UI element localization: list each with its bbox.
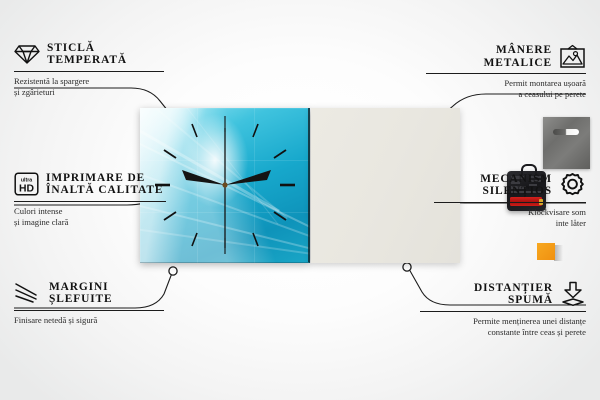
foam-spacer-part xyxy=(537,243,555,260)
feature-sub-line2: a ceasului pe perete xyxy=(426,89,586,100)
diamond-icon xyxy=(14,43,40,65)
feature-title-line1: DISTANȚIER xyxy=(474,282,553,294)
gear-icon xyxy=(559,172,586,198)
wire-dot-right-3 xyxy=(403,263,411,271)
hanger-slot xyxy=(553,129,579,135)
divider xyxy=(434,202,586,203)
feature-sub-line1: Finisare netedă și sigură xyxy=(14,315,164,326)
feature-title-line2: TEMPERATĂ xyxy=(47,54,127,66)
feature-metal-handles: MÂNERE METALICE Permit montarea ușoară a… xyxy=(426,44,586,100)
divider xyxy=(420,311,586,312)
picture-hanger-icon xyxy=(559,44,586,69)
infographic-canvas: STICLĂ TEMPERATĂ Rezistentă la spargere … xyxy=(0,0,600,400)
feature-sub-line1: Permit montarea ușoară xyxy=(426,78,586,89)
feature-sub-line2: inte låter xyxy=(434,218,586,229)
feature-sub-line1: Rezistentă la spargere xyxy=(14,76,164,87)
feature-title-line2: ÎNALTĂ CALITATE xyxy=(46,184,163,196)
feature-tempered-glass: STICLĂ TEMPERATĂ Rezistentă la spargere … xyxy=(14,42,164,98)
divider xyxy=(14,201,166,202)
ultra-hd-icon-main: HD xyxy=(19,184,35,195)
feature-title-line1: MÂNERE xyxy=(484,44,552,56)
ultra-hd-icon: ultra HD xyxy=(14,172,39,196)
feature-title-line2: SPUMĂ xyxy=(474,294,553,306)
feature-title-line1: IMPRIMARE DE xyxy=(46,172,163,184)
divider xyxy=(426,73,586,74)
product-image xyxy=(140,108,460,263)
feature-silent-mechanism: MECANISM SILENȚIOS Klockvisare som inte … xyxy=(434,172,586,229)
wire-dot-left-3 xyxy=(169,267,177,275)
feature-title-line2: SILENȚIOS xyxy=(480,185,552,197)
polished-edges-icon xyxy=(14,282,42,304)
feature-title-line1: MARGINI xyxy=(49,281,113,293)
feature-foam-spacer: DISTANȚIER SPUMĂ Permite menținerea unei… xyxy=(420,281,586,338)
feature-title-line1: MECANISM xyxy=(480,173,552,185)
divider xyxy=(14,71,164,72)
hands-cap xyxy=(222,182,227,187)
foam-spacer-icon xyxy=(560,281,586,307)
divider xyxy=(14,310,164,311)
feature-sub-line2: și zgârieturi xyxy=(14,87,164,98)
metal-hanger-part xyxy=(543,117,590,169)
feature-sub-line1: Permite menținerea unei distanțe xyxy=(420,316,586,327)
feature-sub-line2: și imagine clară xyxy=(14,217,166,228)
feature-title-line1: STICLĂ xyxy=(47,42,127,54)
feature-polished-edges: MARGINI ȘLEFUITE Finisare netedă și sigu… xyxy=(14,281,164,326)
feature-title-line2: METALICE xyxy=(484,57,552,69)
feature-sub-line2: constante între ceas și perete xyxy=(420,327,586,338)
minute-hand xyxy=(225,170,271,185)
feature-title-line2: ȘLEFUITE xyxy=(49,293,113,305)
clock-hands xyxy=(182,128,271,248)
feature-sub-line1: Klockvisare som xyxy=(434,207,586,218)
hour-hand xyxy=(182,170,225,185)
foam-spacer-shadow xyxy=(554,245,563,261)
feature-high-quality-print: ultra HD IMPRIMARE DE ÎNALTĂ CALITATE Cu… xyxy=(14,172,166,228)
feature-sub-line1: Culori intense xyxy=(14,206,166,217)
